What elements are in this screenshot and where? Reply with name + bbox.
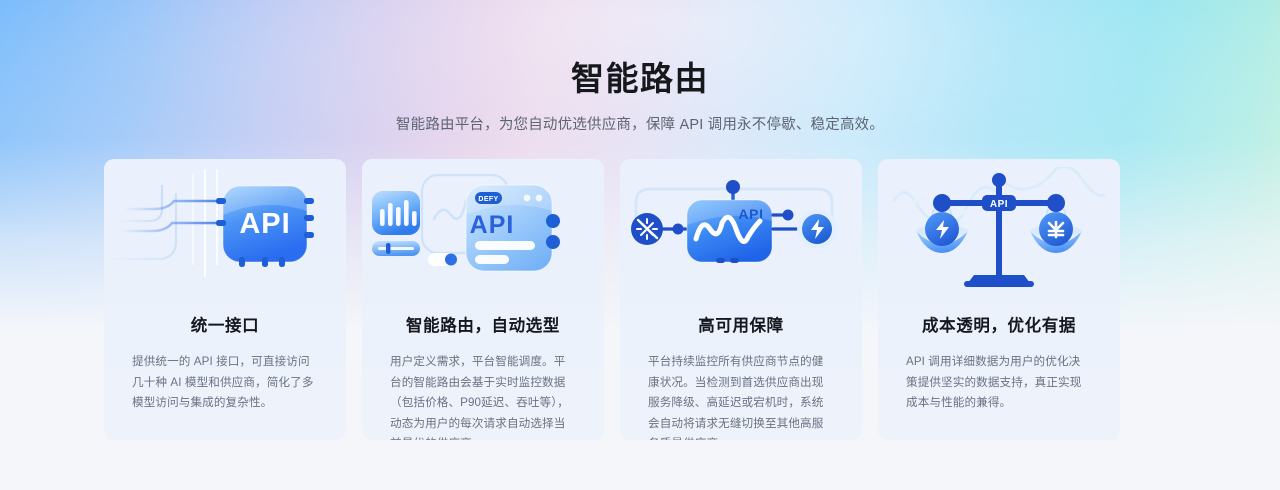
card-title: 成本透明，优化有据	[922, 312, 1076, 336]
feature-card[interactable]: API	[104, 159, 346, 440]
card-description: API 调用详细数据为用户的优化决策提供坚实的数据支持，真正实现成本与性能的兼得…	[906, 352, 1092, 414]
feature-card[interactable]: DEFY API 智能路由，自动选型 用户定义需求，平台智能调度。平台的智能路由…	[362, 159, 604, 440]
badge-label: DEFY	[478, 196, 498, 203]
card-title: 统一接口	[191, 312, 259, 336]
api-failover-icon: API	[620, 167, 862, 292]
api-dashboard-icon: DEFY API	[362, 167, 604, 292]
feature-card[interactable]: API	[878, 159, 1120, 440]
page-header: 智能路由 智能路由平台，为您自动优选供应商，保障 API 调用永不停歇、稳定高效…	[0, 0, 1280, 136]
card-description: 平台持续监控所有供应商节点的健康状况。当检测到首选供应商出现服务降级、高延迟或宕…	[648, 352, 834, 440]
api-chip-icon: API	[104, 167, 346, 292]
card-title: 智能路由，自动选型	[406, 312, 560, 336]
page-title: 智能路由	[0, 58, 1280, 100]
feature-card[interactable]: API 高可用保障 平台持续监控所有供应商节点的健康状况。当检测到首选供应商出现…	[620, 159, 862, 440]
card-description: 用户定义需求，平台智能调度。平台的智能路由会基于实时监控数据（包括价格、P90延…	[390, 352, 576, 440]
card-description: 提供统一的 API 接口，可直接访问几十种 AI 模型和供应商，简化了多模型访问…	[132, 352, 318, 414]
feature-card-list: API	[104, 159, 1120, 440]
page-subtitle: 智能路由平台，为您自动优选供应商，保障 API 调用永不停歇、稳定高效。	[0, 114, 1280, 136]
chip-label: API	[990, 199, 1008, 210]
chip-label: API	[239, 208, 290, 240]
api-balance-scale-icon: API	[878, 167, 1120, 292]
chip-label: API	[470, 211, 515, 239]
card-title: 高可用保障	[698, 312, 784, 336]
